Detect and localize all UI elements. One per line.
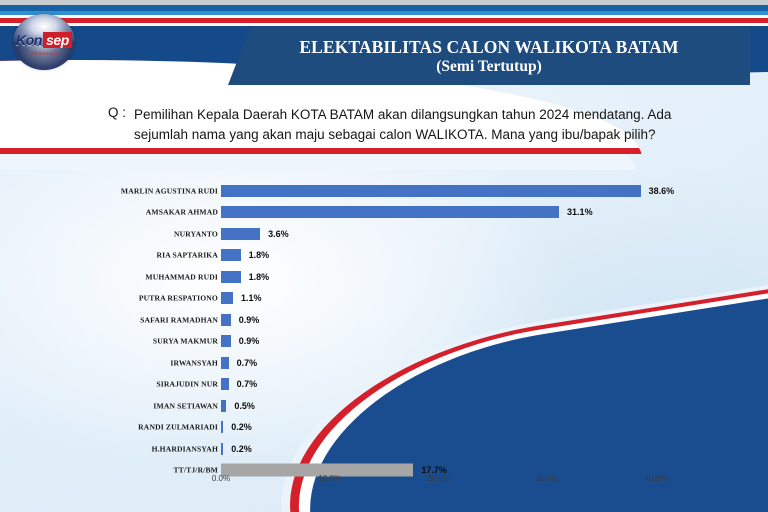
- bar-8: [221, 335, 231, 347]
- bar-category-label: NURYANTO: [174, 229, 218, 238]
- bar-category-label: AMSAKAR AHMAD: [146, 208, 218, 217]
- top-stripe-white-2: [0, 23, 768, 26]
- title-line-2: (Semi Tertutup): [436, 58, 542, 75]
- bar-value-label: 0.5%: [234, 401, 255, 411]
- bar-value-label: 3.6%: [268, 229, 289, 239]
- bar-category-label: IRWANSYAH: [170, 358, 218, 367]
- chart-row: RANDI ZULMARIADI0.2%: [0, 417, 768, 439]
- chart-row: SIRAJUDIN NUR0.7%: [0, 374, 768, 396]
- bar-category-label: SIRAJUDIN NUR: [156, 380, 218, 389]
- title-line-1: ELEKTABILITAS CALON WALIKOTA BATAM: [299, 38, 678, 57]
- bar-category-label: RIA SAPTARIKA: [156, 251, 218, 260]
- x-axis-tick: 0.0%: [212, 474, 230, 483]
- bar-value-label: 31.1%: [567, 207, 593, 217]
- logo-subtitle: Indonesia: [28, 51, 59, 56]
- question-text: Pemilihan Kepala Daerah KOTA BATAM akan …: [134, 105, 708, 144]
- bar-value-label: 1.1%: [241, 293, 262, 303]
- slide-canvas: Konsep Indonesia ELEKTABILITAS CALON WAL…: [0, 0, 768, 512]
- chart-row: H.HARDIANSYAH0.2%: [0, 438, 768, 460]
- bar-chart: MARLIN AGUSTINA RUDI38.6%AMSAKAR AHMAD31…: [0, 178, 768, 503]
- title-banner: ELEKTABILITAS CALON WALIKOTA BATAM (Semi…: [228, 28, 750, 85]
- x-axis-tick: 30.0%: [536, 474, 559, 483]
- x-axis-tick: 10.0%: [318, 474, 341, 483]
- question-block: Q : Pemilihan Kepala Daerah KOTA BATAM a…: [108, 105, 708, 144]
- x-axis-tick: 20.0%: [427, 474, 450, 483]
- bar-category-label: SURYA MAKMUR: [153, 337, 218, 346]
- bar-11: [221, 400, 226, 412]
- bar-value-label: 1.8%: [249, 250, 270, 260]
- bar-value-label: 0.2%: [231, 444, 252, 454]
- bar-6: [221, 292, 233, 304]
- bar-category-label: MARLIN AGUSTINA RUDI: [121, 186, 218, 195]
- bar-category-label: IMAN SETIAWAN: [153, 401, 218, 410]
- bar-5: [221, 271, 241, 283]
- chart-row: MARLIN AGUSTINA RUDI38.6%: [0, 180, 768, 202]
- chart-row: NURYANTO3.6%: [0, 223, 768, 245]
- bar-value-label: 0.7%: [237, 379, 258, 389]
- bar-value-label: 0.2%: [231, 422, 252, 432]
- bar-3: [221, 228, 260, 240]
- bar-value-label: 0.7%: [237, 358, 258, 368]
- bar-value-label: 1.8%: [249, 272, 270, 282]
- bar-13: [221, 443, 223, 455]
- bar-4: [221, 249, 241, 261]
- bar-value-label: 0.9%: [239, 336, 260, 346]
- bar-value-label: 38.6%: [649, 186, 675, 196]
- bar-category-label: H.HARDIANSYAH: [152, 444, 218, 453]
- chart-row: MUHAMMAD RUDI1.8%: [0, 266, 768, 288]
- bar-category-label: SAFARI RAMADHAN: [140, 315, 218, 324]
- chart-row: IRWANSYAH0.7%: [0, 352, 768, 374]
- chart-row: SAFARI RAMADHAN0.9%: [0, 309, 768, 331]
- chart-row: SURYA MAKMUR0.9%: [0, 331, 768, 353]
- bar-7: [221, 314, 231, 326]
- chart-row: AMSAKAR AHMAD31.1%: [0, 202, 768, 224]
- konsep-logo: Konsep Indonesia: [13, 14, 75, 70]
- bar-12: [221, 421, 223, 433]
- chart-row: IMAN SETIAWAN0.5%: [0, 395, 768, 417]
- logo-accent-text: sep: [43, 32, 72, 48]
- bar-category-label: MUHAMMAD RUDI: [145, 272, 218, 281]
- bar-1: [221, 185, 641, 197]
- logo-main-text: Kon: [16, 32, 42, 48]
- bar-2: [221, 206, 559, 218]
- x-axis: 0.0%10.0%20.0%30.0%40.0%: [0, 474, 768, 494]
- bar-9: [221, 357, 229, 369]
- bar-10: [221, 378, 229, 390]
- question-marker: Q :: [108, 105, 126, 144]
- bar-category-label: RANDI ZULMARIADI: [138, 423, 218, 432]
- bar-value-label: 0.9%: [239, 315, 260, 325]
- chart-row: RIA SAPTARIKA1.8%: [0, 245, 768, 267]
- logo-wordmark: Konsep: [16, 32, 72, 48]
- x-axis-tick: 40.0%: [644, 474, 667, 483]
- chart-row: PUTRA RESPATIONO1.1%: [0, 288, 768, 310]
- bar-category-label: PUTRA RESPATIONO: [139, 294, 218, 303]
